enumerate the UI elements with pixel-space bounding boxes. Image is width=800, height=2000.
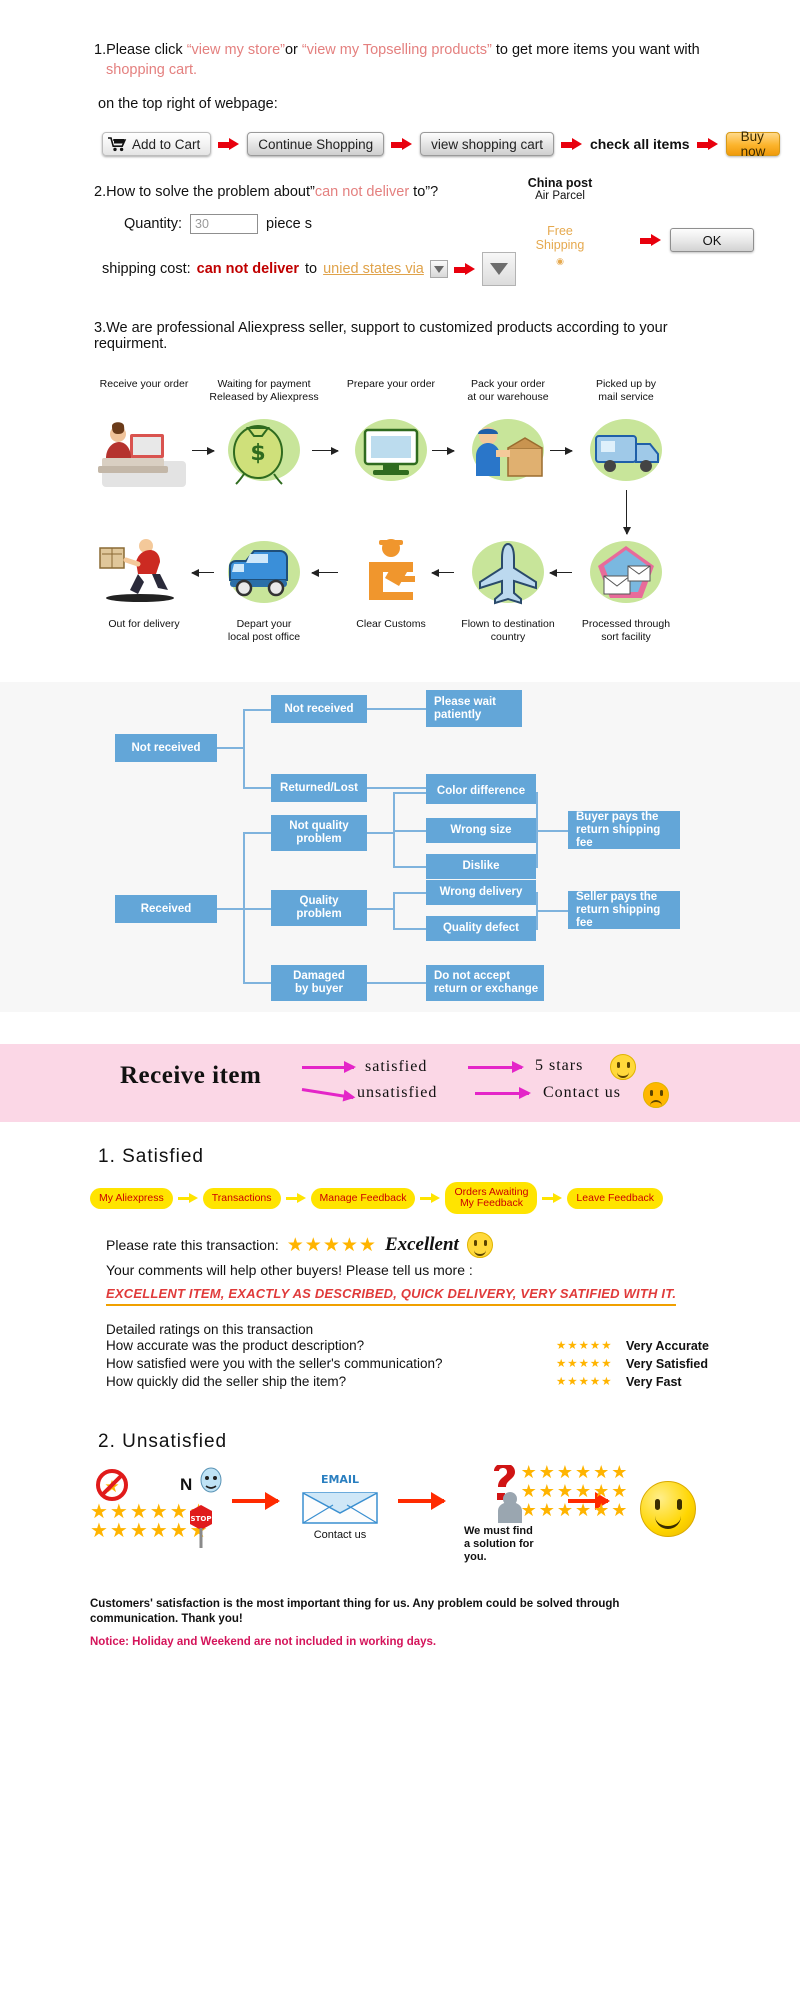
flow-step-flown-destination: Flown to destination country bbox=[452, 618, 564, 643]
worker-package-icon bbox=[452, 414, 564, 486]
section-1-line-1: 1.Please click “view my store”or “view m… bbox=[80, 40, 720, 60]
feedback-steps-row: My Aliexpress Transactions Manage Feedba… bbox=[90, 1182, 720, 1214]
step-label-4: Orders Awaiting My Feedback bbox=[454, 1186, 528, 1209]
label-buyer-pays: Buyer pays the return shipping fee bbox=[576, 811, 676, 850]
line-nq-5 bbox=[393, 866, 426, 868]
carrier-sub: Air Parcel bbox=[500, 190, 620, 202]
carrier-block: China post Air Parcel bbox=[500, 176, 620, 202]
ok-row: OK bbox=[640, 228, 754, 252]
quantity-input[interactable]: 30 bbox=[190, 214, 258, 234]
box-not-received-1: Not received bbox=[271, 695, 367, 723]
airplane-icon bbox=[452, 536, 564, 608]
section-3-number: 3. bbox=[94, 320, 106, 336]
step-label-3: Manage Feedback bbox=[320, 1192, 407, 1204]
flow-step-sort-facility: Processed through sort facility bbox=[570, 618, 682, 643]
comment-textarea[interactable]: EXCELLENT ITEM, EXACTLY AS DESCRIBED, QU… bbox=[106, 1286, 676, 1306]
continue-shopping-label: Continue Shopping bbox=[258, 137, 373, 152]
view-shopping-cart-button[interactable]: view shopping cart bbox=[420, 132, 554, 156]
section-3-text: 3.We are professional Aliexpress seller,… bbox=[80, 320, 720, 352]
flow-blabel-4: Flown to destination country bbox=[461, 618, 554, 643]
pink-arrow-3 bbox=[468, 1066, 522, 1069]
box-received-root: Received bbox=[115, 895, 217, 923]
s1-text-b: or bbox=[285, 42, 302, 58]
view-my-store-link[interactable]: “view my store” bbox=[187, 42, 285, 58]
line-fee-2 bbox=[536, 830, 568, 832]
pink-arrow-4 bbox=[475, 1092, 529, 1095]
flow-label-3: Prepare your order bbox=[347, 378, 435, 390]
flow-label-4: Pack your order at our warehouse bbox=[467, 378, 548, 403]
final-star-row-3: ★★★★★★ bbox=[510, 1501, 640, 1520]
s1-text-d: shopping cart. bbox=[80, 60, 720, 80]
flow-blabel-5: Processed through sort facility bbox=[582, 618, 670, 643]
ok-button[interactable]: OK bbox=[670, 228, 754, 252]
we-must-find-caption: We must find a solution for you. bbox=[448, 1525, 564, 1564]
box-quality-defect: Quality defect bbox=[426, 916, 536, 941]
line-rc-3 bbox=[243, 832, 271, 834]
step-my-aliexpress[interactable]: My Aliexpress bbox=[90, 1188, 173, 1209]
label-damaged: Damaged by buyer bbox=[293, 970, 345, 996]
step-transactions[interactable]: Transactions bbox=[203, 1188, 281, 1209]
detail-row-3: How quickly did the seller ship the item… bbox=[106, 1373, 720, 1391]
monitor-icon bbox=[335, 414, 447, 486]
mail-truck-icon bbox=[570, 414, 682, 486]
detail-row-2: How satisfied were you with the seller's… bbox=[106, 1355, 720, 1373]
shipping-to-label: to bbox=[305, 261, 317, 277]
contact-us-label: Contact us bbox=[543, 1084, 621, 1102]
flow-blabel-3: Clear Customs bbox=[356, 618, 425, 630]
label-do-not-accept: Do not accept return or exchange bbox=[434, 970, 538, 996]
line-nq-3 bbox=[393, 792, 426, 794]
smiley-rating-icon bbox=[467, 1232, 493, 1258]
s2-title-b: to”? bbox=[409, 184, 438, 200]
flow-blabel-1: Out for delivery bbox=[108, 618, 179, 630]
line-fee-4 bbox=[536, 910, 568, 912]
line-qp-3 bbox=[393, 892, 426, 894]
step-label-5: Leave Feedback bbox=[576, 1192, 654, 1204]
line-rc-1 bbox=[217, 908, 245, 910]
flow-label-5: Picked up by mail service bbox=[596, 378, 656, 403]
flow-step-depart-post-office: Depart your local post office bbox=[208, 618, 320, 643]
line-nr-3 bbox=[243, 709, 271, 711]
line-qp-4 bbox=[393, 928, 426, 930]
free-shipping-line-1: Free bbox=[547, 224, 573, 238]
add-to-cart-label: Add to Cart bbox=[132, 137, 200, 152]
section-1: 1.Please click “view my store”or “view m… bbox=[80, 0, 720, 156]
box-quality-problem: Quality problem bbox=[271, 890, 367, 926]
arrow-right-icon-3 bbox=[561, 138, 583, 150]
box-do-not-accept: Do not accept return or exchange bbox=[426, 965, 544, 1001]
line-nr-4 bbox=[243, 787, 271, 789]
instruction-page: 1.Please click “view my store”or “view m… bbox=[80, 0, 720, 668]
customs-officer-icon bbox=[335, 536, 447, 608]
footer-note: Customers' satisfaction is the most impo… bbox=[90, 1597, 720, 1650]
computer-user-icon bbox=[88, 414, 200, 486]
contact-us-caption: Contact us bbox=[285, 1529, 395, 1542]
yellow-arrow-1 bbox=[178, 1193, 198, 1203]
arrow-right-icon-5 bbox=[454, 263, 476, 275]
label-wrong-delivery: Wrong delivery bbox=[440, 886, 523, 899]
label-wrong-size: Wrong size bbox=[450, 824, 511, 837]
label-not-received-1: Not received bbox=[284, 703, 353, 716]
box-seller-pays: Seller pays the return shipping fee bbox=[568, 891, 680, 929]
money-bag-icon: $ bbox=[208, 414, 320, 486]
free-shipping-badge: Free Shipping ◉ bbox=[500, 224, 620, 268]
red-arrow-1 bbox=[232, 1499, 278, 1503]
flow-step-clear-customs: Clear Customs bbox=[335, 618, 447, 631]
flow-step-receive-order: Receive your order bbox=[88, 378, 200, 391]
five-stars-label: 5 stars bbox=[535, 1057, 583, 1075]
label-not-received-root: Not received bbox=[131, 742, 200, 755]
line-nq-1 bbox=[367, 832, 395, 834]
flow-step-out-for-delivery: Out for delivery bbox=[88, 618, 200, 631]
yellow-arrow-4 bbox=[542, 1193, 562, 1203]
line-rc-5 bbox=[243, 982, 271, 984]
final-star-row-2: ★★★★★★ bbox=[510, 1482, 640, 1501]
cart-button-row: Add to Cart Continue Shopping view shopp… bbox=[102, 132, 720, 156]
ok-label: OK bbox=[703, 233, 722, 248]
label-not-quality: Not quality problem bbox=[289, 820, 348, 846]
s2-title-red: can not deliver bbox=[315, 184, 409, 200]
box-buyer-pays: Buyer pays the return shipping fee bbox=[568, 811, 680, 849]
yellow-arrow-2 bbox=[286, 1193, 306, 1203]
detail-q-2: How satisfied were you with the seller's… bbox=[106, 1355, 556, 1373]
section-2: 2.How to solve the problem about”can not… bbox=[80, 184, 720, 286]
shopping-cart-icon bbox=[107, 136, 127, 152]
no-symbol-icon: ★ bbox=[90, 1469, 180, 1503]
detail-v-3: Very Fast bbox=[626, 1373, 682, 1391]
stop-sign-icon: STOP bbox=[180, 1503, 222, 1554]
flow-label-2: Waiting for payment Released by Aliexpre… bbox=[209, 378, 318, 403]
svg-text:$: $ bbox=[250, 441, 265, 466]
detail-v-2: Very Satisfied bbox=[626, 1355, 708, 1373]
worried-face-icon bbox=[198, 1467, 224, 1502]
cannot-deliver-text: can not deliver bbox=[197, 261, 299, 277]
shipping-cost-label: shipping cost: bbox=[102, 261, 191, 277]
final-star-group: ★★★★★★ ★★★★★★ ★★★★★★ bbox=[510, 1463, 640, 1520]
label-returned-lost: Returned/Lost bbox=[280, 782, 358, 795]
step-leave-feedback[interactable]: Leave Feedback bbox=[567, 1188, 663, 1209]
red-arrow-2 bbox=[398, 1499, 444, 1503]
box-please-wait: Please wait patiently bbox=[426, 690, 522, 727]
svg-text:STOP: STOP bbox=[191, 1515, 212, 1523]
flow-step-prepare-order: Prepare your order bbox=[335, 378, 447, 391]
envelope-icon: EMAIL bbox=[285, 1471, 395, 1529]
quantity-row: Quantity: 30 piece s bbox=[124, 214, 720, 234]
flow-label-1: Receive your order bbox=[100, 378, 189, 390]
step-label-2: Transactions bbox=[212, 1192, 272, 1204]
smiley-happy-icon bbox=[610, 1054, 636, 1080]
label-quality-defect: Quality defect bbox=[443, 922, 519, 935]
detail-row-1: How accurate was the product description… bbox=[106, 1337, 720, 1355]
rating-stars[interactable]: ★★★★★ bbox=[287, 1234, 377, 1257]
info-icon: ◉ bbox=[500, 254, 620, 268]
piece-label: piece s bbox=[266, 216, 312, 232]
detail-stars-1[interactable]: ★★★★★ bbox=[556, 1337, 626, 1355]
line-dm-1 bbox=[367, 982, 426, 984]
flow-step-pack-order: Pack your order at our warehouse bbox=[452, 378, 564, 403]
line-nr-5 bbox=[367, 708, 426, 710]
continue-shopping-button[interactable]: Continue Shopping bbox=[247, 132, 384, 156]
flow-step-waiting-payment: Waiting for payment Released by Aliexpre… bbox=[208, 378, 320, 403]
box-not-received-root: Not received bbox=[115, 734, 217, 762]
step-orders-awaiting[interactable]: Orders Awaiting My Feedback bbox=[445, 1182, 537, 1214]
return-policy-diagram: Not received Not received Returned/Lost … bbox=[0, 682, 800, 1012]
email-group: EMAIL Contact us bbox=[285, 1471, 395, 1542]
arrow-right-icon-2 bbox=[391, 138, 413, 150]
unsat-star-row-2: ★★★★★★ bbox=[90, 1522, 180, 1541]
delivery-van-icon bbox=[208, 536, 320, 608]
s3-text: We are professional Aliexpress seller, s… bbox=[94, 320, 668, 352]
s1-text-a: Please click bbox=[106, 42, 187, 58]
chevron-down-icon-small bbox=[434, 266, 444, 273]
flow-step-picked-up: Picked up by mail service bbox=[570, 378, 682, 403]
country-dropdown-small[interactable] bbox=[430, 260, 448, 278]
line-nr-6 bbox=[367, 787, 426, 789]
arrow-right-icon-4 bbox=[697, 138, 719, 150]
label-dislike: Dislike bbox=[462, 860, 499, 873]
rate-prompt: Please rate this transaction: bbox=[106, 1237, 279, 1253]
quantity-label: Quantity: bbox=[124, 216, 182, 232]
footer-notice: Notice: Holiday and Weekend are not incl… bbox=[90, 1635, 720, 1650]
sorted-mail-icon bbox=[570, 536, 682, 608]
box-wrong-size: Wrong size bbox=[426, 818, 536, 843]
flow-arrow-down bbox=[626, 490, 627, 534]
free-shipping-line-2: Shipping bbox=[536, 238, 585, 252]
detailed-ratings-heading: Detailed ratings on this transaction bbox=[106, 1322, 720, 1337]
footer-line-1: Customers' satisfaction is the most impo… bbox=[90, 1598, 619, 1610]
step-label-1: My Aliexpress bbox=[99, 1192, 164, 1204]
detail-q-3: How quickly did the seller ship the item… bbox=[106, 1373, 556, 1391]
line-rc-4 bbox=[243, 908, 271, 910]
delivery-flow-diagram: Receive your order Waiting for payment R… bbox=[80, 378, 720, 668]
label-quality: Quality problem bbox=[296, 895, 341, 921]
svg-text:EMAIL: EMAIL bbox=[321, 1473, 359, 1486]
add-to-cart-button[interactable]: Add to Cart bbox=[102, 132, 211, 156]
box-damaged-by-buyer: Damaged by buyer bbox=[271, 965, 367, 1001]
smiley-sad-icon bbox=[643, 1082, 669, 1108]
box-wrong-delivery: Wrong delivery bbox=[426, 880, 536, 905]
big-smiley-icon bbox=[640, 1481, 696, 1537]
running-courier-icon bbox=[88, 536, 200, 608]
box-returned-lost: Returned/Lost bbox=[271, 774, 367, 802]
section-1-number: 1. bbox=[94, 42, 106, 58]
s2-title-a: How to solve the problem about” bbox=[106, 184, 315, 200]
buy-now-button[interactable]: Buy now bbox=[726, 132, 781, 156]
label-received-root: Received bbox=[141, 903, 192, 916]
buy-now-label: Buy now bbox=[741, 129, 766, 159]
check-all-items-label: check all items bbox=[590, 136, 690, 152]
arrow-right-icon-6 bbox=[640, 234, 662, 246]
view-shopping-cart-label: view shopping cart bbox=[431, 137, 543, 152]
comments-prompt: Your comments will help other buyers! Pl… bbox=[106, 1262, 720, 1278]
view-topselling-link[interactable]: “view my Topselling products” bbox=[302, 42, 492, 58]
detail-q-1: How accurate was the product description… bbox=[106, 1337, 556, 1355]
no-label: N bbox=[180, 1475, 192, 1495]
box-color-difference: Color difference bbox=[426, 779, 536, 804]
line-nr-1 bbox=[217, 747, 245, 749]
satisfied-label: satisfied bbox=[365, 1058, 427, 1076]
section-2-number: 2. bbox=[94, 184, 106, 200]
unsatisfied-heading: 2. Unsatisfied bbox=[98, 1431, 720, 1453]
box-not-quality-problem: Not quality problem bbox=[271, 815, 367, 851]
s1-text-c: to get more items you want with bbox=[492, 42, 700, 58]
unsatisfied-flow: ★ ★★★★★★ ★★★★★★ N STOP EMAIL Contact us … bbox=[80, 1463, 720, 1583]
receive-item-title: Receive item bbox=[120, 1062, 261, 1090]
rate-transaction-row: Please rate this transaction: ★★★★★ Exce… bbox=[106, 1232, 720, 1258]
line-qp-2 bbox=[393, 892, 395, 930]
final-star-row-1: ★★★★★★ bbox=[510, 1463, 640, 1482]
step-manage-feedback[interactable]: Manage Feedback bbox=[311, 1188, 416, 1209]
excellent-label: Excellent bbox=[385, 1234, 459, 1256]
line-nq-4 bbox=[393, 830, 426, 832]
receive-item-band: Receive item satisfied unsatisfied 5 sta… bbox=[0, 1044, 800, 1122]
detail-stars-2[interactable]: ★★★★★ bbox=[556, 1355, 626, 1373]
flow-blabel-2: Depart your local post office bbox=[228, 618, 300, 643]
carrier-name: China post bbox=[500, 176, 620, 190]
label-please-wait: Please wait patiently bbox=[434, 696, 496, 722]
satisfied-heading: 1. Satisfied bbox=[98, 1146, 720, 1168]
pink-arrow-2 bbox=[302, 1088, 354, 1099]
box-dislike: Dislike bbox=[426, 854, 536, 879]
shipping-cost-row: shipping cost:can not deliver to unied s… bbox=[102, 252, 720, 286]
pink-arrow-1 bbox=[302, 1066, 354, 1069]
detail-stars-3[interactable]: ★★★★★ bbox=[556, 1373, 626, 1391]
s1-subtitle: on the top right of webpage: bbox=[80, 94, 720, 114]
line-nr-2 bbox=[243, 709, 245, 789]
yellow-arrow-3 bbox=[420, 1193, 440, 1203]
section-2-title: 2.How to solve the problem about”can not… bbox=[80, 184, 720, 200]
arrow-right-icon-1 bbox=[218, 138, 240, 150]
unsatisfied-label: unsatisfied bbox=[357, 1084, 437, 1102]
no-rating-group: ★ ★★★★★★ ★★★★★★ bbox=[90, 1469, 180, 1541]
label-color-difference: Color difference bbox=[437, 785, 525, 798]
label-seller-pays: Seller pays the return shipping fee bbox=[576, 891, 676, 930]
footer-line-2: communication. Thank you! bbox=[90, 1613, 243, 1625]
detail-v-1: Very Accurate bbox=[626, 1337, 709, 1355]
destination-link[interactable]: unied states via bbox=[323, 261, 424, 277]
line-qp-1 bbox=[367, 908, 395, 910]
